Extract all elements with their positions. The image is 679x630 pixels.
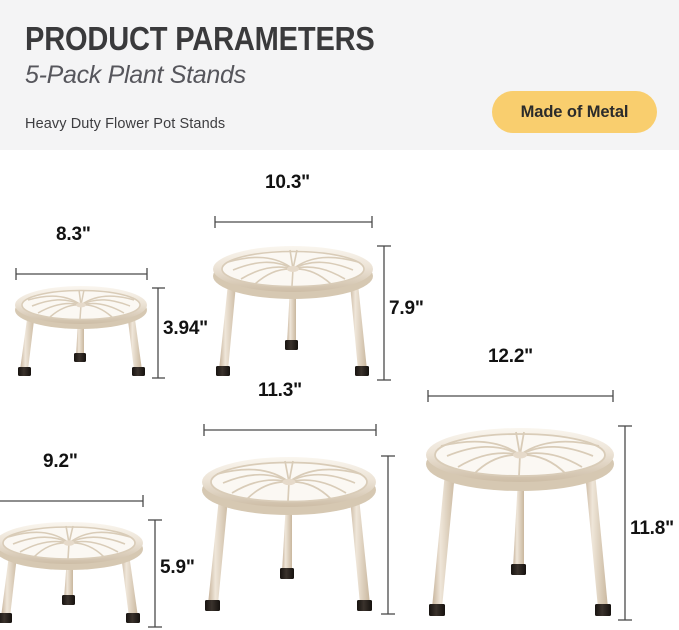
width-dimension-line bbox=[0, 479, 163, 509]
diameter-label: 12.2" bbox=[488, 346, 533, 368]
stand-small-9-2: 9.2" 5.9" bbox=[0, 495, 163, 630]
tray-group bbox=[0, 522, 143, 570]
stand-illustration bbox=[420, 392, 630, 630]
tray-group bbox=[213, 246, 373, 299]
height-label: 3.94" bbox=[163, 318, 208, 340]
page-tagline: Heavy Duty Flower Pot Stands bbox=[25, 116, 225, 132]
stand-illustration bbox=[196, 426, 391, 626]
diameter-label: 9.2" bbox=[43, 451, 78, 473]
page-title: PRODUCT PARAMETERS bbox=[25, 22, 375, 55]
stand-medium-10-3: 10.3" 7.9" bbox=[207, 218, 387, 393]
tray-group bbox=[426, 428, 614, 491]
width-dimension-line bbox=[8, 252, 168, 282]
stand-illustration bbox=[0, 495, 163, 630]
height-label: 11.8" bbox=[630, 518, 674, 540]
width-dimension-line bbox=[420, 374, 630, 404]
tray-group bbox=[202, 457, 376, 515]
product-parameters-infographic: PRODUCT PARAMETERS 5-Pack Plant Stands H… bbox=[0, 0, 679, 630]
page-subtitle: 5-Pack Plant Stands bbox=[25, 61, 422, 90]
width-dimension-line bbox=[207, 200, 387, 230]
stand-illustration bbox=[207, 218, 387, 393]
stand-small-8-3: 8.3" 3.94" bbox=[8, 268, 168, 388]
height-label: 7.9" bbox=[389, 298, 424, 320]
stand-medium-11-3: 11.3" 9.84" bbox=[196, 426, 391, 626]
header-text-block: PRODUCT PARAMETERS 5-Pack Plant Stands bbox=[25, 22, 422, 90]
diameter-label: 11.3" bbox=[258, 380, 302, 402]
material-badge: Made of Metal bbox=[492, 91, 657, 133]
height-dimension-line bbox=[376, 450, 406, 630]
tray-group bbox=[15, 286, 147, 329]
header-band: PRODUCT PARAMETERS 5-Pack Plant Stands H… bbox=[0, 0, 679, 150]
height-label: 5.9" bbox=[160, 557, 195, 579]
stand-large-12-2: 12.2" 11.8" bbox=[420, 392, 630, 630]
diameter-label: 10.3" bbox=[265, 172, 310, 194]
height-dimension-line bbox=[372, 240, 402, 405]
diameter-label: 8.3" bbox=[56, 224, 91, 246]
width-dimension-line bbox=[196, 408, 391, 438]
stands-diagram: 8.3" 3.94" bbox=[0, 150, 679, 630]
stand-illustration bbox=[8, 268, 168, 388]
